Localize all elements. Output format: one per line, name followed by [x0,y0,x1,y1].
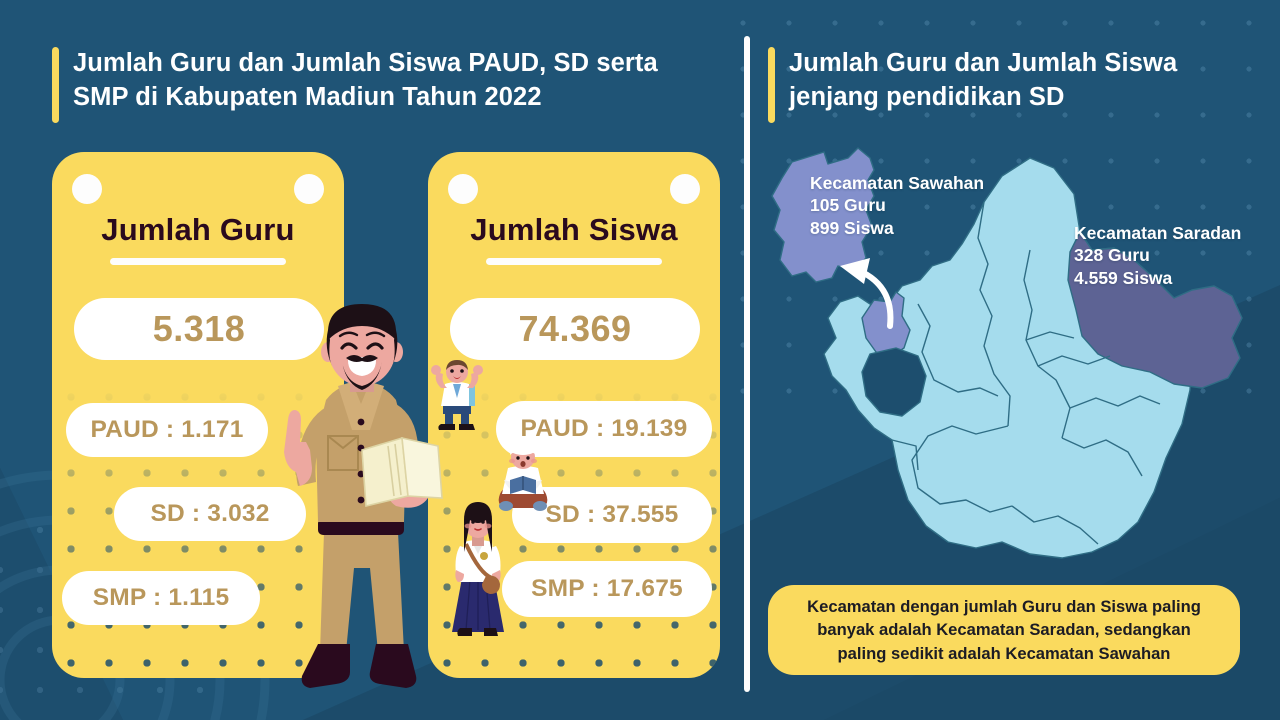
card-punch-hole-left [72,174,102,204]
card-heading-underline [486,258,662,265]
guru-paud-row: PAUD : 1.171 [66,403,268,457]
siswa-smp-row: SMP : 17.675 [502,561,712,617]
right-panel-title: Jumlah Guru dan Jumlah Siswa jenjang pen… [768,47,1238,123]
map-label-sawahan: Kecamatan Sawahan 105 Guru 899 Siswa [810,172,984,239]
panel-divider [744,36,750,692]
card-punch-hole-left [448,174,478,204]
map-label-saradan: Kecamatan Saradan 328 Guru 4.559 Siswa [1074,222,1241,289]
left-title-text: Jumlah Guru dan Jumlah Siswa PAUD, SD se… [73,47,658,114]
card-heading: Jumlah Siswa [428,212,720,248]
student-paud-illustration-icon [425,358,489,438]
card-heading: Jumlah Guru [52,212,344,248]
title-accent-bar [768,47,775,123]
card-punch-hole-right [670,174,700,204]
siswa-total-value: 74.369 [450,298,700,360]
guru-smp-row: SMP : 1.115 [62,571,260,625]
card-heading-underline [110,258,286,265]
student-smp-illustration-icon [446,500,510,648]
right-title-text: Jumlah Guru dan Jumlah Siswa jenjang pen… [789,47,1177,114]
title-accent-bar [52,47,59,123]
card-punch-hole-right [294,174,324,204]
left-panel-title: Jumlah Guru dan Jumlah Siswa PAUD, SD se… [52,47,712,123]
summary-note-box: Kecamatan dengan jumlah Guru dan Siswa p… [768,585,1240,675]
